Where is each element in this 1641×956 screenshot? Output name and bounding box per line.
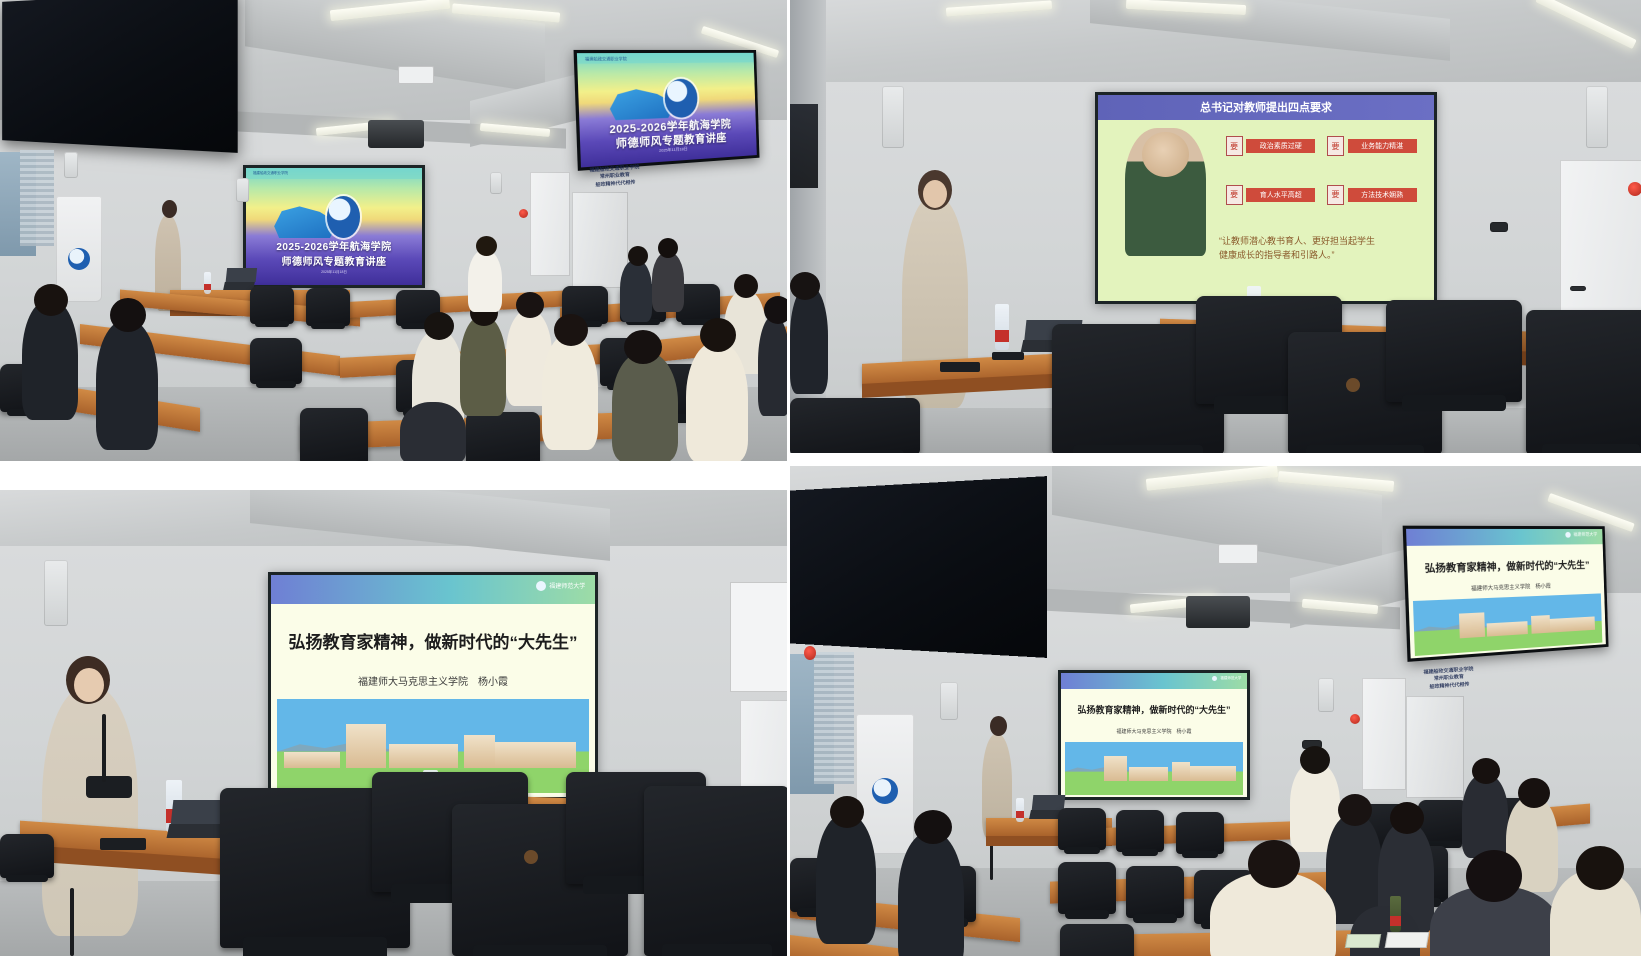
audience-member — [1462, 774, 1508, 858]
slide-subtitle: 福建师大马克思主义学院 杨小霞 — [271, 673, 595, 688]
requirement-item: 要 政治素质过硬 — [1226, 136, 1316, 156]
audience-head — [1472, 758, 1500, 784]
audience-member — [542, 334, 598, 450]
handheld-microphone — [86, 776, 132, 798]
audience-head — [554, 314, 588, 346]
audience-head — [624, 330, 662, 364]
university-logo-icon — [1212, 676, 1217, 681]
campus-building — [389, 744, 457, 768]
chair-logo — [524, 850, 538, 864]
ceiling-projector — [368, 120, 424, 148]
slide-title-educator-spirit: 福建师范大学 弘扬教育家精神，做新时代的“大先生” 福建师大马克思主义学院 杨小… — [1061, 673, 1247, 797]
wall-speaker — [1586, 86, 1608, 148]
audience-head — [790, 272, 820, 300]
audience-chair — [466, 412, 540, 461]
slide-title-educator-spirit: 福建师范大学 弘扬教育家精神，做新时代的“大先生” 福建师大马克思主义学院 杨小… — [1406, 529, 1606, 659]
wall-led-display: 福建师范大学 弘扬教育家精神，做新时代的“大先生” 福建师大马克思主义学院 杨小… — [1403, 526, 1609, 662]
audience-head — [110, 298, 146, 332]
wall-slogan: 福建船政交通职业学院 常州职业教育 船政精神代代相传 — [589, 164, 640, 189]
university-logo-icon — [1565, 532, 1571, 538]
projection-screen: 福建船政交通职业学院 2025-2026学年航海学院 师德师风专题教育讲座 20… — [243, 165, 425, 288]
university-name: 福建师范大学 — [1573, 532, 1597, 538]
presenter-head — [162, 200, 177, 218]
school-emblem — [664, 78, 698, 118]
projection-screen: 福建师范大学 弘扬教育家精神，做新时代的“大先生” 福建师大马克思主义学院 杨小… — [268, 572, 598, 800]
seminar-room-audience-rear-view: 福建师范大学 弘扬教育家精神，做新时代的“大先生” 福建师大马克思主义学院 杨小… — [790, 466, 1641, 956]
notebook — [1385, 932, 1430, 948]
campus-photo — [1065, 742, 1244, 794]
campus-building — [1129, 767, 1168, 781]
lecturer-face — [74, 668, 104, 702]
seminar-room-presenter-closeup: 总书记对教师提出四点要求 要 政治素质过硬 要 业务能力精湛 — [790, 0, 1641, 453]
audience-head — [914, 810, 952, 844]
audience-head — [1300, 746, 1330, 774]
door — [572, 192, 628, 288]
desk-microphone — [940, 362, 980, 372]
wall-whiteboard — [730, 582, 787, 692]
campus-building — [1531, 615, 1550, 634]
campus-building — [1172, 762, 1190, 781]
chair-logo — [1346, 378, 1360, 392]
photo-panel-bottom-left: 福建师范大学 弘扬教育家精神，做新时代的“大先生” 福建师大马克思主义学院 杨小… — [0, 490, 787, 956]
audience-head — [424, 312, 454, 340]
audience-head — [1466, 850, 1522, 902]
ac-logo — [872, 778, 898, 804]
seminar-room-lecturer-with-mic: 福建师范大学 弘扬教育家精神，做新时代的“大先生” 福建师大马克思主义学院 杨小… — [0, 490, 787, 956]
audience-head — [764, 296, 787, 324]
photo-panel-top-right: 总书记对教师提出四点要求 要 政治素质过硬 要 业务能力精湛 — [790, 0, 1641, 453]
wall-monitor-off — [790, 104, 818, 188]
slide-main-title: 弘扬教育家精神，做新时代的“大先生” — [1061, 703, 1247, 716]
slide-title-naval-lecture: 福建船政交通职业学院 2025-2026学年航海学院 师德师风专题教育讲座 20… — [577, 53, 757, 168]
slide-university-mark: 福建师范大学 — [1212, 676, 1241, 681]
wall-speaker — [882, 86, 904, 148]
campus-building — [495, 742, 576, 768]
audience-chair — [1058, 808, 1106, 850]
campus-building — [1104, 756, 1127, 781]
audience-chair — [1058, 862, 1116, 914]
requirement-marker: 要 — [1327, 136, 1344, 156]
chair — [790, 398, 920, 453]
slide-subtitle: 福建师大马克思主义学院 杨小霞 — [1061, 728, 1247, 735]
audience-chair — [1126, 866, 1184, 918]
audience-head — [34, 284, 68, 316]
wall-speaker — [44, 560, 68, 626]
audience-member — [790, 286, 828, 394]
campus-building — [1459, 612, 1485, 639]
wall-monitor-off — [790, 476, 1047, 658]
ac-logo — [68, 248, 90, 270]
window-blinds — [20, 150, 54, 246]
requirement-marker: 要 — [1327, 185, 1344, 205]
chair — [0, 834, 54, 878]
wall-speaker — [64, 152, 78, 178]
water-bottle — [1016, 798, 1024, 822]
door — [530, 172, 570, 276]
audience-member — [816, 814, 876, 944]
seminar-room-wide-view: 福建船政交通职业学院 2025-2026学年航海学院 师德师风专题教育讲座 20… — [0, 0, 787, 461]
slide-main-title: 弘扬教育家精神，做新时代的“大先生” — [271, 628, 595, 653]
requirement-label: 业务能力精湛 — [1348, 139, 1417, 153]
audience-head — [628, 246, 648, 266]
wall-control-panel — [1218, 544, 1258, 564]
requirements-grid: 要 政治素质过硬 要 业务能力精湛 要 育人水平高超 — [1226, 136, 1421, 223]
photo-panel-top-left: 福建船政交通职业学院 2025-2026学年航海学院 师德师风专题教育讲座 20… — [0, 0, 787, 461]
audience-chair — [306, 288, 350, 326]
campus-building — [284, 752, 340, 769]
wall-speaker — [490, 172, 502, 194]
presenter-head — [990, 716, 1007, 736]
university-logo-icon — [536, 581, 546, 591]
photo-panel-bottom-right: 福建师范大学 弘扬教育家精神，做新时代的“大先生” 福建师大马克思主义学院 杨小… — [790, 466, 1641, 956]
audience-member — [612, 352, 678, 461]
audience-chair — [250, 286, 294, 324]
window-blinds — [814, 652, 854, 784]
leader-portrait-face — [1142, 132, 1189, 177]
slide-org-logo: 福建船政交通职业学院 — [585, 56, 627, 62]
slide-quote: “让教师潜心教书育人、更好担当起学生 健康成长的指导者和引路人。” — [1219, 235, 1421, 262]
wall-monitor-off — [2, 0, 238, 153]
slide-four-requirements: 总书记对教师提出四点要求 要 政治素质过硬 要 业务能力精湛 — [1098, 95, 1434, 301]
requirement-label: 政治素质过硬 — [1246, 139, 1315, 153]
slide-title-naval-lecture: 福建船政交通职业学院 2025-2026学年航海学院 师德师风专题教育讲座 20… — [246, 168, 422, 285]
audience-member — [460, 316, 506, 416]
notebook — [1345, 934, 1381, 948]
door — [1362, 678, 1406, 790]
water-bottle — [204, 272, 211, 294]
slide-university-mark: 福建师范大学 — [536, 581, 585, 591]
slide-subtitle: 福建师大马克思主义学院 杨小霞 — [1408, 580, 1604, 595]
presenter-face — [923, 180, 947, 208]
requirement-marker: 要 — [1226, 185, 1243, 205]
photo-collage: 福建船政交通职业学院 2025-2026学年航海学院 师德师风专题教育讲座 20… — [0, 0, 1641, 956]
wall-speaker — [1318, 678, 1334, 712]
audience-member — [898, 832, 964, 956]
laptop-lid — [1032, 795, 1066, 810]
chair — [1386, 300, 1522, 402]
lecturer-body — [42, 686, 138, 936]
audience-head — [476, 236, 497, 256]
audience-head — [658, 238, 678, 258]
audience-head — [1248, 840, 1300, 888]
slide-main-title: 弘扬教育家精神，做新时代的“大先生” — [1407, 557, 1603, 576]
audience-member — [620, 260, 652, 322]
door-handle — [1570, 286, 1586, 291]
projection-screen: 总书记对教师提出四点要求 要 政治素质过硬 要 业务能力精湛 — [1095, 92, 1437, 304]
slide-title-line2: 师德师风专题教育讲座 — [246, 253, 422, 268]
campus-building — [1486, 621, 1528, 637]
campus-building — [1550, 616, 1596, 632]
campus-building — [464, 735, 495, 769]
audience-head — [1576, 846, 1624, 890]
slide-quote-line: 健康成长的指导者和引路人。” — [1219, 249, 1421, 263]
audience-chair — [1060, 924, 1134, 956]
audience-chair — [1176, 812, 1224, 854]
wall-speaker — [940, 682, 958, 720]
requirement-marker: 要 — [1226, 136, 1243, 156]
audience-chair — [1116, 810, 1164, 852]
audience-member — [96, 320, 158, 450]
slide-org-logo: 福建船政交通职业学院 — [253, 171, 288, 176]
slide-title-line1: 2025-2026学年航海学院 — [246, 238, 422, 253]
slide-header: 总书记对教师提出四点要求 — [1098, 95, 1434, 120]
wall-switch-plate — [1490, 222, 1508, 232]
slide-university-mark: 福建师范大学 — [1565, 532, 1597, 538]
audience-chair — [300, 408, 368, 461]
requirement-item: 要 业务能力精湛 — [1327, 136, 1417, 156]
audience-member — [22, 300, 78, 420]
slide-date: 2025年11月18日 — [246, 270, 422, 275]
slide-title-educator-spirit: 福建师范大学 弘扬教育家精神，做新时代的“大先生” 福建师大马克思主义学院 杨小… — [271, 575, 595, 797]
audience-head — [734, 274, 758, 298]
audience-head — [1518, 778, 1550, 808]
door — [1406, 696, 1464, 798]
laptop-lid — [226, 268, 257, 282]
audience-head — [1390, 802, 1424, 834]
university-name: 福建师范大学 — [549, 581, 585, 590]
audience-member — [758, 316, 787, 416]
requirement-item: 要 育人水平高超 — [1226, 185, 1316, 205]
campus-building — [1190, 766, 1236, 781]
university-name: 福建师范大学 — [1220, 676, 1241, 681]
audience-head — [516, 292, 544, 318]
wall-led-display: 福建船政交通职业学院 2025-2026学年航海学院 师德师风专题教育讲座 20… — [574, 50, 760, 171]
audience-head — [830, 796, 864, 828]
fire-alarm-icon — [804, 646, 816, 660]
audience-chair — [250, 338, 302, 384]
audience-head — [700, 318, 736, 352]
chair — [1526, 310, 1641, 453]
campus-building — [346, 724, 386, 769]
requirement-label: 育人水平高超 — [1246, 188, 1315, 202]
laptop — [223, 282, 255, 290]
campus-photo — [1413, 594, 1602, 656]
floor-cable — [70, 888, 74, 956]
requirement-item: 要 方法技术娴熟 — [1327, 185, 1417, 205]
projection-screen: 福建师范大学 弘扬教育家精神，做新时代的“大先生” 福建师大马克思主义学院 杨小… — [1058, 670, 1250, 800]
audience-member — [400, 402, 466, 461]
fire-alarm-icon — [1628, 182, 1641, 196]
water-bottle — [1390, 896, 1401, 932]
ceiling-projector — [1186, 596, 1250, 628]
wall-control-panel — [398, 66, 434, 84]
audience-member — [686, 342, 748, 461]
desk-microphone — [100, 838, 146, 850]
requirement-label: 方法技术娴熟 — [1348, 188, 1417, 202]
wall-slogan: 福建船政交通职业学院 常州职业教育 船政精神代代相传 — [1423, 666, 1474, 691]
fire-alarm-icon — [1350, 714, 1360, 724]
desk-microphone — [992, 352, 1024, 360]
school-emblem — [327, 196, 360, 238]
audience-head — [1338, 794, 1372, 826]
wall-speaker — [236, 178, 249, 202]
slide-quote-line: “让教师潜心教书育人、更好担当起学生 — [1219, 235, 1421, 249]
water-bottle — [995, 304, 1009, 350]
audience-member — [652, 252, 684, 312]
fire-alarm-icon — [519, 209, 528, 218]
chair — [644, 786, 787, 956]
audience-member — [468, 250, 502, 312]
mic-cable — [102, 714, 106, 782]
